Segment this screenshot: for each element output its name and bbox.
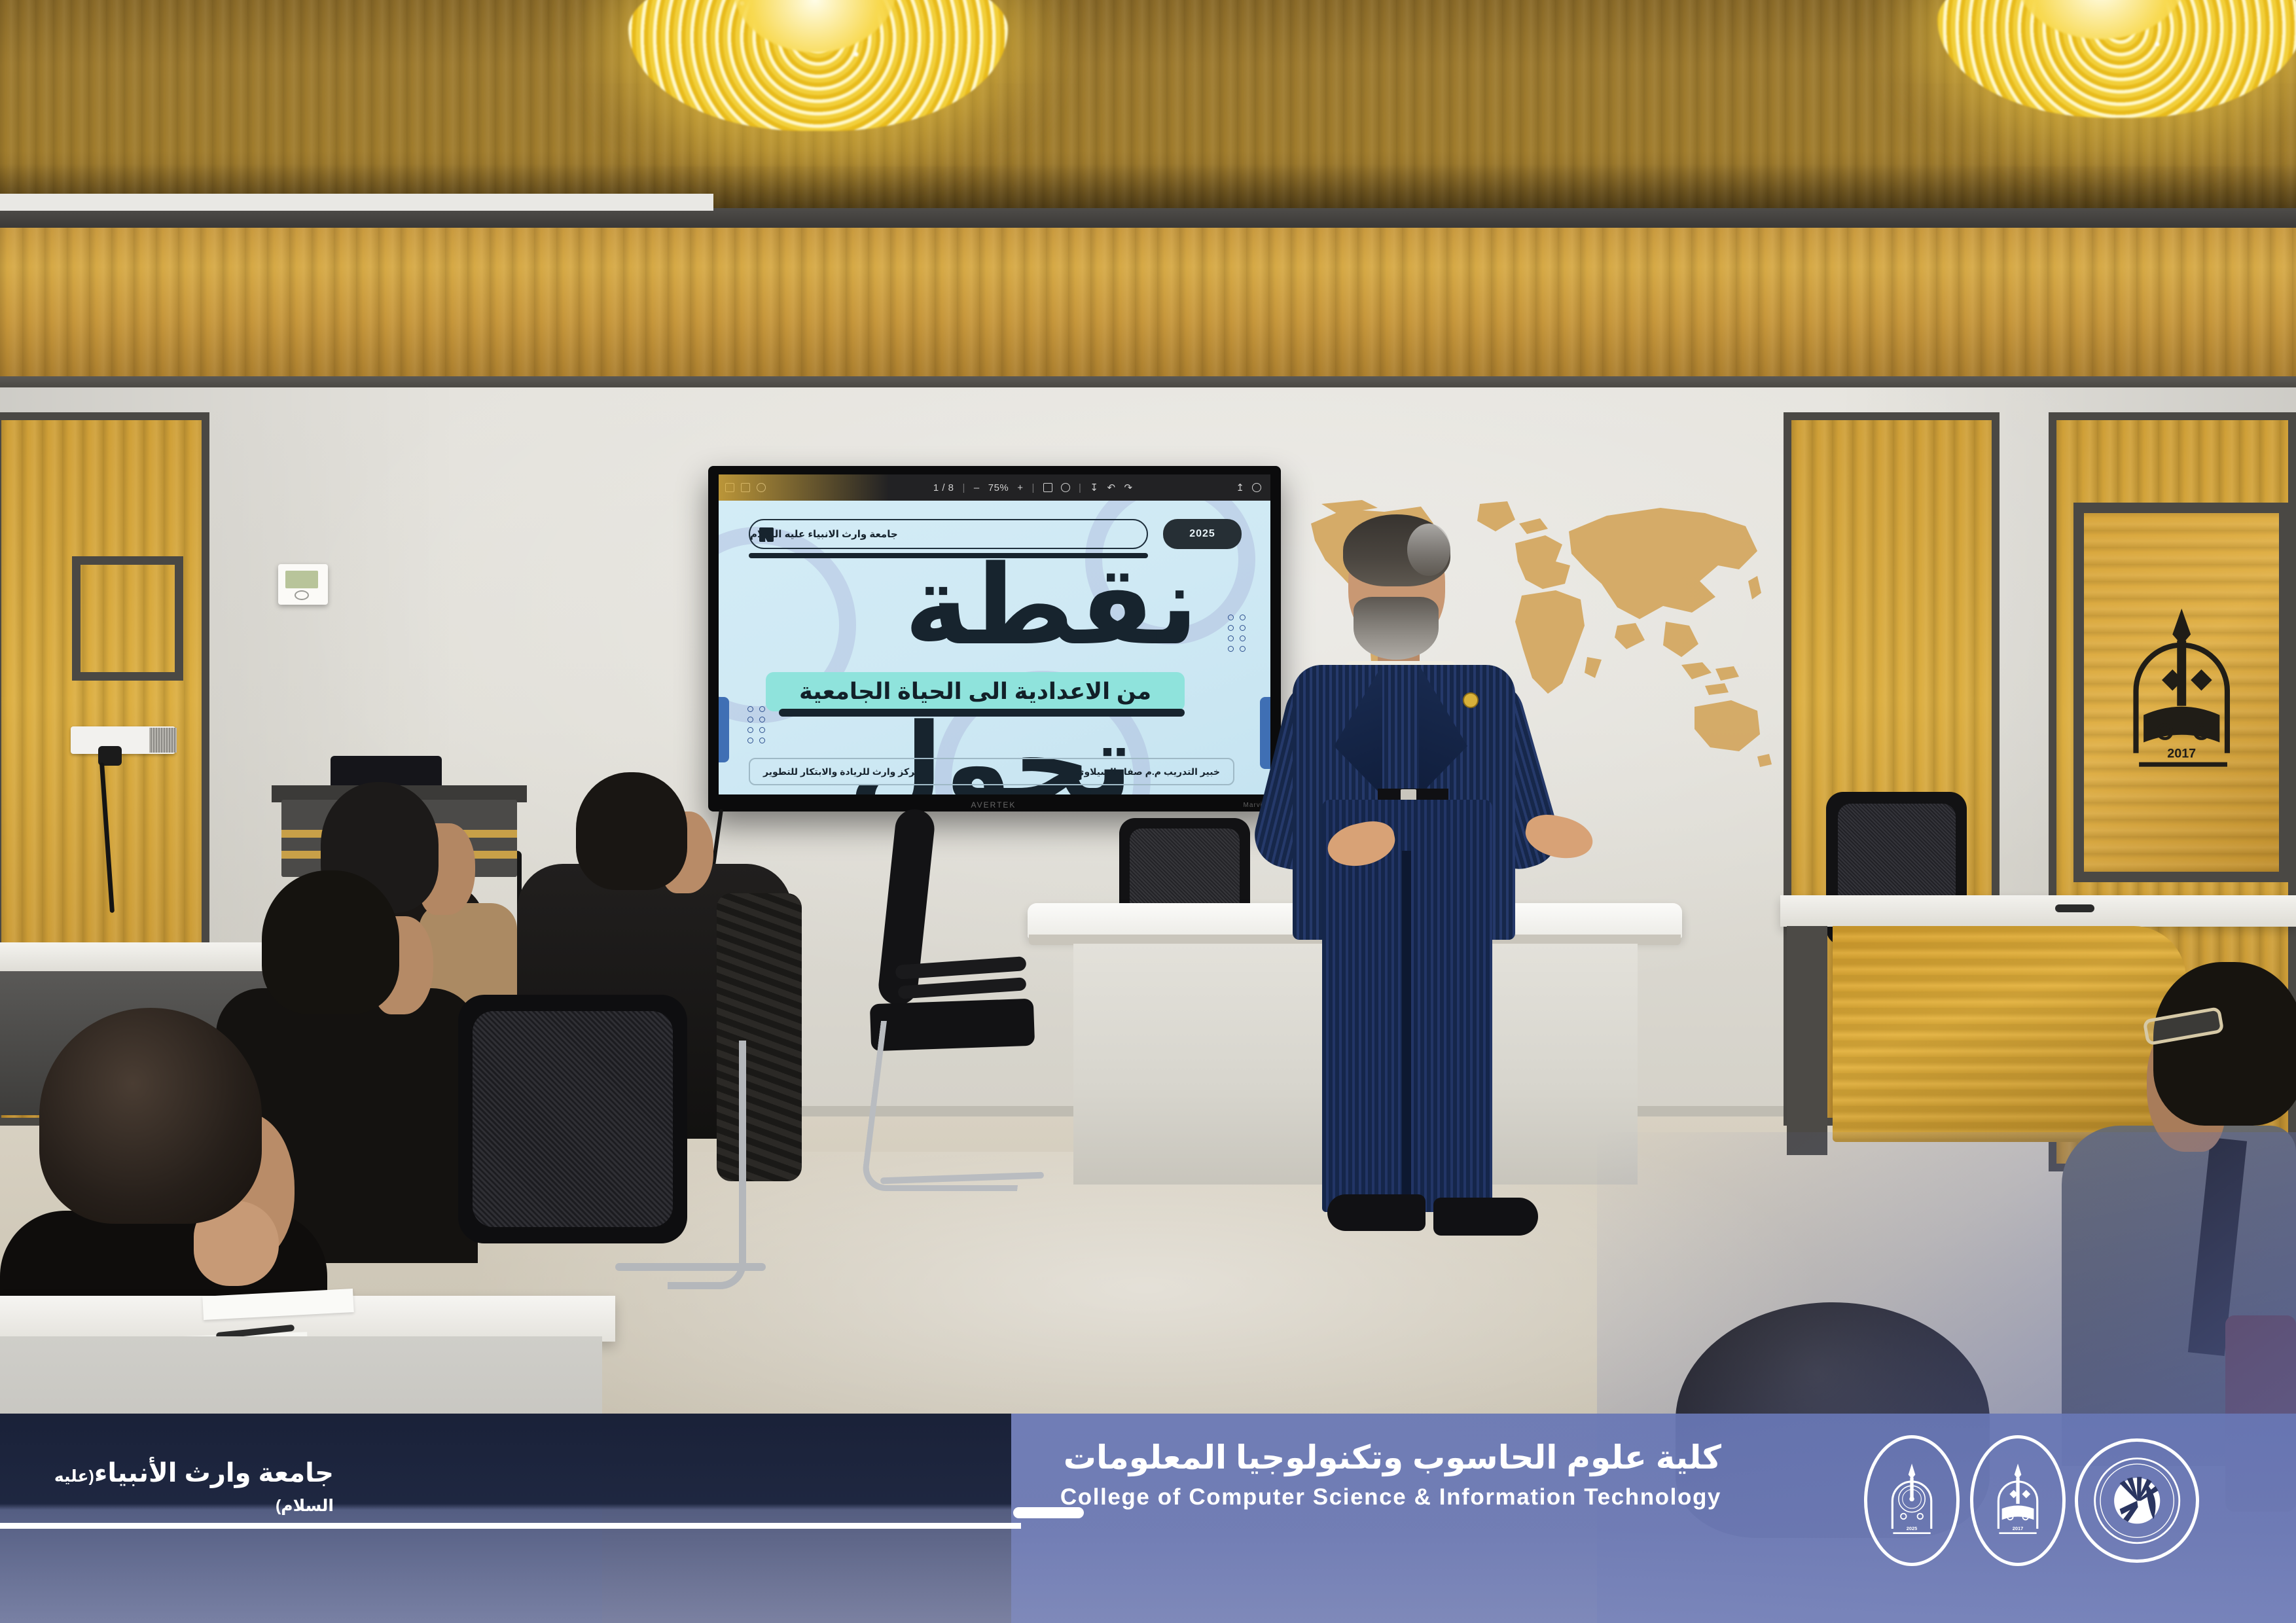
zoom-in-icon[interactable]: + xyxy=(1017,482,1023,493)
undo-icon[interactable]: ↶ xyxy=(1107,482,1115,493)
redo-icon[interactable]: ↷ xyxy=(1124,482,1133,493)
lapel-pin xyxy=(1463,692,1479,708)
photo-canvas: 2017 xyxy=(0,0,2296,1623)
right-desk-wood-front xyxy=(1833,926,2186,1142)
slide-footer-center: مركز وارث للريادة والابتكار للتطوير xyxy=(763,766,920,777)
page-indicator: 1 / 8 xyxy=(933,482,954,493)
visitor-chair-cantilever-frame xyxy=(860,1021,1038,1191)
presenter-beard xyxy=(1354,597,1439,660)
university-crest-icon: 2017 xyxy=(1983,1452,2053,1549)
presenter-hair-highlight xyxy=(1407,524,1450,576)
slide-subtitle: من الاعدادية الى الحياة الجامعية xyxy=(799,679,1151,705)
dot-grid-decoration xyxy=(747,706,766,743)
dot-grid-decoration xyxy=(1228,615,1247,652)
trouser-gap xyxy=(1402,851,1411,1217)
right-desk-leg xyxy=(1787,926,1827,1155)
plaque-year: 2017 xyxy=(2167,747,2196,761)
slide-title-top: نقطة xyxy=(904,550,1198,660)
wall-vent-grille xyxy=(149,728,177,753)
college-crest-icon: 2025 xyxy=(1877,1452,1946,1549)
ministry-seal-icon xyxy=(2091,1455,2183,1546)
right-person-hair xyxy=(2153,962,2296,1126)
foreground-person-hair xyxy=(39,1008,262,1224)
toolbar-separator-2: | xyxy=(1032,482,1035,493)
footer-college-name-en: College of Computer Science & Informatio… xyxy=(1047,1484,1721,1510)
zoom-level[interactable]: 75% xyxy=(988,482,1009,493)
footer-university-main: جامعة وارث الأنبياء xyxy=(94,1459,334,1488)
wood-wall-band xyxy=(0,228,2296,383)
college-logo-year: 2025 xyxy=(1907,1525,1917,1531)
thermostat-dial-icon[interactable] xyxy=(295,590,309,600)
university-wall-plaque: 2017 xyxy=(2073,503,2289,882)
university-crest-logo: 2017 xyxy=(1970,1435,2066,1566)
slide-content: جامعة وارث الانبياء عليه السلام 2025 نقط… xyxy=(719,501,1270,794)
slide-left-accent xyxy=(719,697,729,762)
ministry-seal-logo xyxy=(2075,1438,2199,1563)
book-icon xyxy=(759,527,774,542)
desk-pen[interactable] xyxy=(2055,904,2094,912)
right-desk-top xyxy=(1780,895,2296,927)
slide-footer-speaker: خبير التدريب م.م صفاء السيلاوي xyxy=(1076,766,1220,777)
share-icon[interactable]: ↥ xyxy=(1236,482,1244,493)
wall-band-white xyxy=(0,194,713,211)
slide-right-accent xyxy=(1260,697,1270,769)
display-screen: 1 / 8 | – 75% + | | ↧ ↶ ↷ ↥ xyxy=(719,474,1270,794)
presenter-shoe-left xyxy=(1327,1194,1426,1231)
zoom-out-icon[interactable]: – xyxy=(974,482,980,493)
presentation-display[interactable]: 1 / 8 | – 75% + | | ↧ ↶ ↷ ↥ xyxy=(708,466,1281,811)
contrast-icon[interactable] xyxy=(1061,483,1070,492)
audience-chair-foot-rail xyxy=(615,1263,766,1271)
pdf-viewer-toolbar[interactable]: 1 / 8 | – 75% + | | ↧ ↶ ↷ ↥ xyxy=(719,474,1270,501)
footer-university-name: جامعة وارث الأنبياء(عليه السلام) xyxy=(20,1458,334,1518)
audience-person-hair xyxy=(576,772,687,890)
settings-icon[interactable] xyxy=(1252,483,1261,492)
footer-college-name-ar: كلية علوم الحاسوب وتكنولوجيا المعلومات xyxy=(1047,1438,1721,1476)
footer-band-left xyxy=(0,1414,1011,1623)
audience-person-hair xyxy=(262,870,399,1014)
thermostat-display xyxy=(285,571,318,588)
fit-page-icon[interactable] xyxy=(1043,483,1052,492)
audience-chair-mesh xyxy=(473,1011,673,1227)
footer-divider-rule xyxy=(0,1523,1021,1529)
ceiling-soffit xyxy=(0,208,2296,229)
download-icon[interactable]: ↧ xyxy=(1090,482,1098,493)
left-panel-inset-frame xyxy=(72,556,183,681)
audience-chair-frame xyxy=(668,1041,746,1289)
toolbar-glare xyxy=(719,474,889,501)
plaque-crest-icon: 2017 xyxy=(2106,552,2257,832)
toolbar-separator: | xyxy=(963,482,965,493)
tv-brand-label: AVERTEK xyxy=(971,800,1016,810)
college-crest-logo: 2025 xyxy=(1864,1435,1960,1566)
presenter-shoe-right xyxy=(1433,1198,1538,1236)
slide-footer-bar: خبير التدريب م.م صفاء السيلاوي مركز وارث… xyxy=(749,758,1234,785)
university-logo-year: 2017 xyxy=(2013,1525,2023,1531)
toolbar-separator-3: | xyxy=(1079,482,1081,493)
